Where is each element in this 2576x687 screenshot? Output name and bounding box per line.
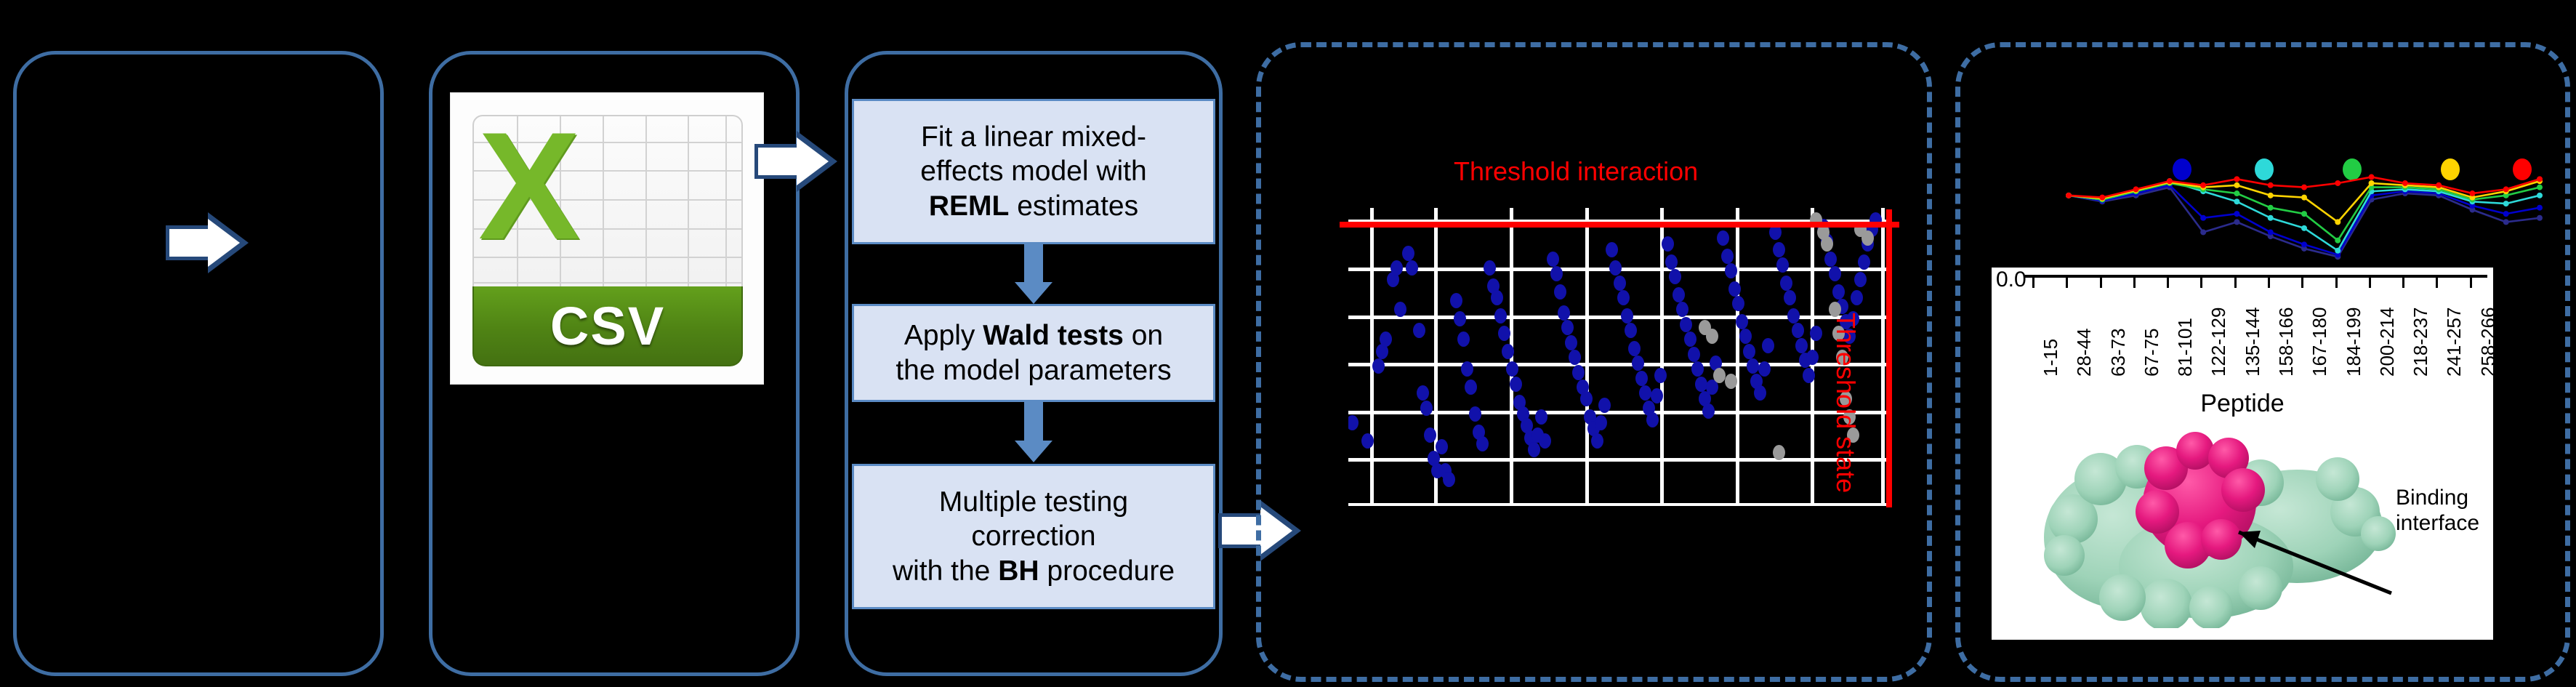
- arrow-shaft: [754, 144, 800, 179]
- down-arrow-1-shaft: [1024, 244, 1043, 284]
- scatter-point: [1829, 266, 1841, 281]
- scatter-point: [1372, 358, 1385, 374]
- x-axis-tick-label: 135-144: [2242, 308, 2264, 377]
- scatter-point: [1420, 401, 1433, 416]
- scatter-point: [1625, 323, 1637, 338]
- peptide-point: [2335, 248, 2340, 254]
- scatter-point: [1803, 368, 1815, 383]
- scatter-point: [1725, 374, 1737, 389]
- peptide-point: [2537, 193, 2543, 198]
- scatter-point: [1662, 236, 1674, 252]
- peptide-point: [2335, 219, 2340, 225]
- peptide-point: [2234, 211, 2239, 217]
- scatter-point: [1628, 341, 1641, 356]
- scatter-point: [1506, 361, 1518, 377]
- scatter-point: [1702, 403, 1715, 419]
- peptide-point: [2301, 185, 2307, 190]
- x-axis-tick-label: 28-44: [2073, 329, 2096, 377]
- peptide-point: [2234, 176, 2239, 182]
- scatter-point: [1390, 260, 1403, 276]
- scatter-point: [1469, 406, 1481, 422]
- scatter-point: [1617, 290, 1630, 305]
- arrow-shaft: [166, 225, 211, 260]
- csv-label: CSV: [550, 295, 665, 357]
- x-axis-tick: [2200, 276, 2202, 288]
- scatter-point: [1413, 323, 1425, 338]
- scatter-point: [1721, 249, 1734, 264]
- peptide-point: [2335, 180, 2340, 186]
- peptide-point: [2503, 211, 2509, 217]
- peptide-point: [2537, 176, 2543, 182]
- peptide-point: [2200, 229, 2206, 235]
- scatter-point: [1528, 442, 1540, 457]
- scatter-point: [1550, 266, 1563, 281]
- peptide-point: [2503, 186, 2509, 192]
- scatter-point: [1747, 358, 1759, 374]
- scatter-point: [1728, 281, 1741, 297]
- scatter-point: [1776, 257, 1789, 273]
- binding-interface-label: Binding interface: [2396, 486, 2479, 536]
- x-axis-tick: [2301, 276, 2303, 288]
- scatter-point: [1535, 409, 1547, 425]
- scatter-point: [1646, 412, 1659, 427]
- peptide-point: [2335, 238, 2340, 244]
- excel-x-letter: X: [478, 119, 580, 254]
- scatter-point: [1754, 385, 1766, 401]
- x-axis-tick-label: 122-129: [2207, 308, 2230, 377]
- scatter-point: [1635, 371, 1648, 386]
- spreadsheet-grid: X: [472, 115, 743, 298]
- scatter-point: [1465, 379, 1477, 395]
- scatter-point: [1558, 305, 1570, 321]
- scatter-point: [1824, 252, 1837, 267]
- scatter-point: [1450, 293, 1462, 308]
- input-panel: [13, 51, 384, 676]
- down-arrow-2-head: [1015, 441, 1052, 462]
- peptide-point: [2301, 241, 2307, 247]
- scatter-point: [1484, 260, 1496, 276]
- down-arrow-2-shaft: [1024, 402, 1043, 441]
- scatter-point: [1758, 361, 1771, 377]
- peptide-point: [2537, 215, 2543, 221]
- scatter-point: [1348, 415, 1359, 430]
- scatter-point: [1457, 332, 1470, 347]
- scatter-point: [1572, 365, 1585, 380]
- x-axis-tick: [2369, 276, 2371, 288]
- y-axis-tick-label: 0.0: [1996, 268, 2026, 292]
- scatter-point: [1554, 284, 1566, 300]
- scatter-point: [1762, 338, 1774, 353]
- diagram-canvas: X CSV Fit a linear mixed- effects model …: [0, 0, 2576, 687]
- peptide-axis-card: 0.0 1-1528-4463-7367-7581-101122-129135-…: [1992, 268, 2493, 640]
- threshold-state-label: Threshold state: [1830, 313, 1861, 493]
- threshold-interaction-line: [1340, 222, 1899, 228]
- step-bh-text: Multiple testing correction with the BH …: [893, 485, 1175, 589]
- scatter-point: [1417, 385, 1429, 401]
- scatter-point: [1621, 308, 1633, 324]
- peptide-point: [2436, 182, 2442, 188]
- scatter-point: [1561, 320, 1574, 335]
- scatter-point: [1547, 252, 1559, 267]
- peptide-point: [2301, 211, 2307, 217]
- x-axis-tick-label: 1-15: [2040, 339, 2062, 377]
- protein-structure-image: [2021, 410, 2399, 628]
- arrow-head-fill: [208, 219, 240, 267]
- down-arrow-1-head: [1015, 282, 1052, 304]
- scatter-point: [1736, 314, 1748, 329]
- peptide-point: [2469, 190, 2475, 196]
- scatter-point: [1443, 472, 1455, 487]
- peptide-point: [2268, 182, 2274, 188]
- scatter-point: [1810, 326, 1822, 341]
- scatter-point: [1454, 311, 1466, 326]
- x-axis-tick: [2402, 276, 2404, 288]
- peptide-point: [2537, 185, 2543, 190]
- step-box-wald[interactable]: Apply Wald tests on the model parameters: [852, 304, 1215, 402]
- scatter-point: [1591, 433, 1603, 449]
- x-axis-tick: [2066, 276, 2068, 288]
- peptide-point: [2066, 193, 2072, 198]
- x-axis-tick: [2167, 276, 2169, 288]
- csv-label-band: CSV: [472, 286, 743, 366]
- x-axis-tick: [2470, 276, 2472, 288]
- peptide-point: [2167, 178, 2173, 184]
- flow-arrow-2: [754, 131, 840, 192]
- peptide-point: [2200, 215, 2206, 221]
- x-axis-tick-label: 63-73: [2107, 329, 2130, 377]
- scatter-point: [1651, 388, 1663, 403]
- x-axis-tick-label: 218-237: [2410, 308, 2432, 377]
- step-reml-text: Fit a linear mixed- effects model with R…: [920, 120, 1146, 224]
- x-axis-tick: [2133, 276, 2136, 288]
- peptide-point: [2402, 180, 2408, 186]
- x-axis-tick: [2032, 276, 2034, 288]
- step-box-reml[interactable]: Fit a linear mixed- effects model with R…: [852, 99, 1215, 244]
- peptide-point: [2369, 180, 2375, 186]
- scatter-point: [1361, 433, 1374, 449]
- scatter-point: [1424, 427, 1436, 443]
- csv-file-icon: X CSV: [451, 93, 763, 384]
- scatter-point: [1832, 284, 1845, 300]
- x-axis-tick-label: 258-266: [2477, 308, 2493, 377]
- scatter-point: [1695, 377, 1707, 392]
- peptide-line-chart: [2028, 154, 2544, 262]
- scatter-point: [1717, 230, 1729, 246]
- peptide-point: [2234, 219, 2239, 225]
- x-axis-line: [2025, 275, 2487, 278]
- scatter-point: [1498, 326, 1510, 341]
- scatter-point: [1792, 323, 1804, 338]
- scatter-point: [1713, 368, 1726, 383]
- peptide-point: [2301, 195, 2307, 201]
- scatter-point: [1565, 335, 1577, 350]
- peptide-point: [2234, 190, 2239, 196]
- scatter-point: [1706, 329, 1718, 344]
- x-axis-tick: [2234, 276, 2237, 288]
- scatter-point: [1680, 317, 1692, 332]
- scatter-point: [1595, 415, 1607, 430]
- scatter-point: [1854, 272, 1867, 287]
- scatter-point: [1787, 308, 1800, 324]
- x-axis-tick-label: 241-257: [2443, 308, 2466, 377]
- scatter-point: [1739, 329, 1752, 344]
- x-axis-tick: [2436, 276, 2438, 288]
- x-axis-tick-label: 200-214: [2376, 308, 2399, 377]
- scatter-point: [1821, 236, 1833, 252]
- scatter-point: [1436, 439, 1448, 454]
- threshold-state-line: [1886, 209, 1892, 507]
- peptide-point: [2234, 198, 2239, 204]
- scatter-point: [1784, 290, 1796, 305]
- scatter-point: [1732, 296, 1744, 311]
- scatter-point: [1614, 276, 1626, 291]
- scatter-point: [1510, 377, 1522, 392]
- x-axis-tick: [2100, 276, 2102, 288]
- scatter-point: [1461, 361, 1473, 377]
- x-axis-tick-label: 67-75: [2141, 329, 2163, 377]
- x-axis-tick: [2268, 276, 2270, 288]
- scatter-point: [1691, 361, 1704, 377]
- scatter-point: [1780, 276, 1792, 291]
- scatter-point: [1743, 344, 1755, 359]
- scatter-point: [1688, 347, 1700, 362]
- peptide-point: [2537, 205, 2543, 211]
- scatter-point: [1609, 260, 1622, 276]
- flow-arrow-1: [166, 212, 251, 273]
- peptide-point: [2369, 174, 2375, 180]
- scatter-point: [1632, 355, 1644, 371]
- peptide-point: [2301, 225, 2307, 231]
- x-axis-tick: [2335, 276, 2338, 288]
- scatter-point: [1380, 332, 1392, 347]
- peptide-point: [2234, 182, 2239, 188]
- scatter-point: [1494, 308, 1507, 324]
- scatter-point: [1491, 290, 1503, 305]
- peptide-point: [2503, 201, 2509, 206]
- peptide-point: [2099, 195, 2105, 201]
- scatter-point: [1725, 263, 1737, 278]
- x-axis-tick-label: 158-166: [2275, 308, 2298, 377]
- scatter-point: [1406, 260, 1418, 276]
- peptide-point: [2268, 193, 2274, 198]
- scatter-point: [1476, 436, 1489, 451]
- peptide-point: [2503, 219, 2509, 225]
- scatter-point: [1851, 290, 1863, 305]
- peptide-point: [2133, 186, 2139, 192]
- scatter-point: [1539, 433, 1551, 449]
- peptide-point: [2200, 182, 2206, 188]
- scatter-point: [1598, 398, 1611, 413]
- scatter-point: [1773, 242, 1785, 257]
- scatter-point: [1665, 254, 1678, 270]
- scatter-point: [1669, 269, 1681, 284]
- arrow-head-fill: [797, 137, 829, 185]
- scatter-point: [1654, 368, 1667, 383]
- scatter-point: [1402, 246, 1414, 261]
- scatter-point: [1806, 350, 1819, 365]
- x-axis-tick-label: 184-199: [2343, 308, 2365, 377]
- step-wald-text: Apply Wald tests on the model parameters: [895, 318, 1171, 387]
- peptide-point: [2268, 229, 2274, 235]
- scatter-plot: [1348, 208, 1886, 506]
- scatter-point: [1673, 287, 1685, 302]
- scatter-point: [1639, 385, 1651, 401]
- peptide-point: [2268, 205, 2274, 211]
- threshold-interaction-label: Threshold interaction: [1454, 156, 1698, 187]
- scatter-point: [1606, 242, 1618, 257]
- scatter-point: [1795, 338, 1808, 353]
- x-axis-tick-label: 81-101: [2174, 318, 2197, 377]
- scatter-point: [1684, 332, 1696, 347]
- scatter-point: [1580, 391, 1593, 406]
- step-box-bh[interactable]: Multiple testing correction with the BH …: [852, 464, 1215, 609]
- x-axis-tick-label: 167-180: [2309, 308, 2331, 377]
- peptide-point: [2268, 215, 2274, 221]
